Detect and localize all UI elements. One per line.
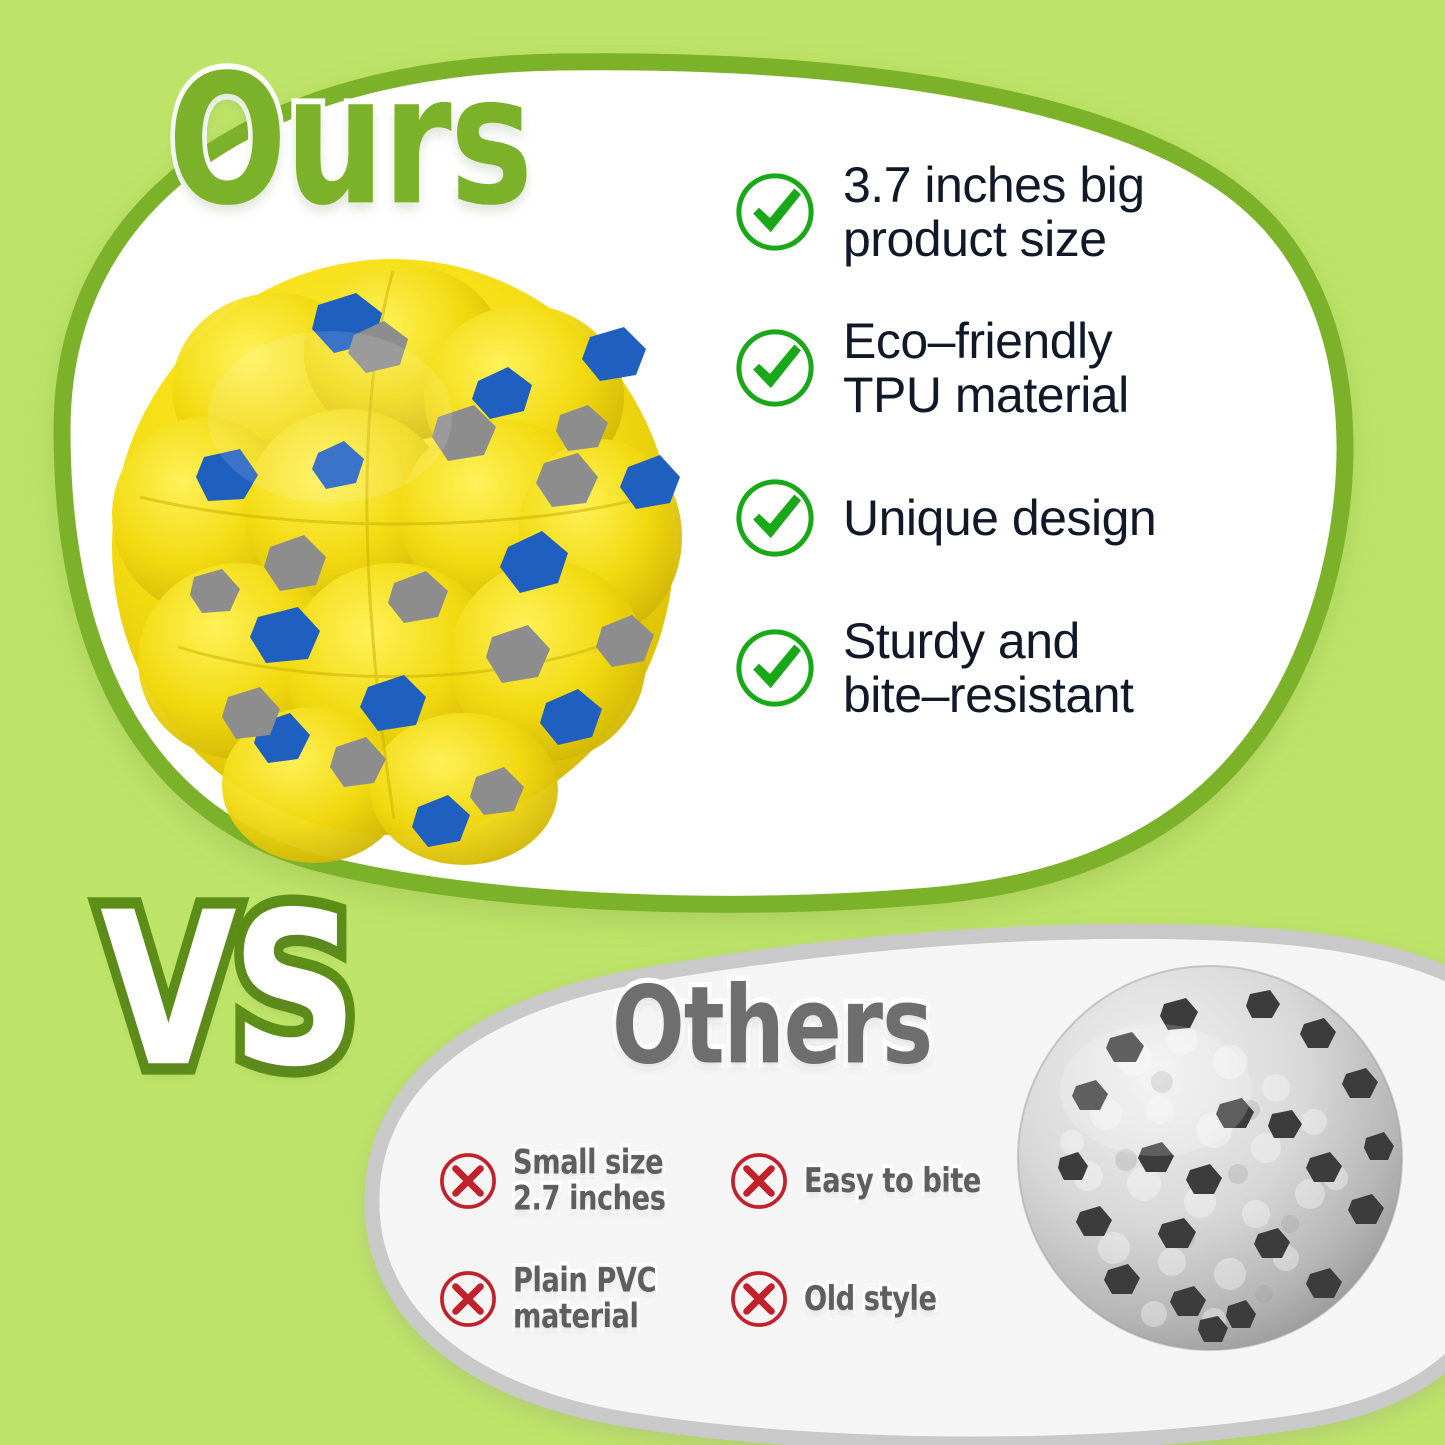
check-circle-icon <box>733 326 817 410</box>
ours-title: Ours <box>168 36 531 245</box>
drawback-row: Plain PVC material <box>437 1240 728 1358</box>
drawback-label: Small size 2.7 inches <box>513 1145 666 1217</box>
drawback-label: Easy to bite <box>804 1163 981 1199</box>
x-circle-icon <box>728 1150 790 1212</box>
feature-label: Sturdy and bite–resistant <box>843 614 1133 722</box>
drawback-label: Old style <box>804 1281 937 1317</box>
versus-label: VS <box>100 866 353 1113</box>
feature-row: Eco–friendly TPU material <box>733 314 1203 422</box>
feature-label: 3.7 inches big product size <box>843 158 1145 266</box>
check-circle-icon <box>733 626 817 710</box>
feature-label: Eco–friendly TPU material <box>843 314 1129 422</box>
drawback-row: Old style <box>728 1240 1022 1358</box>
drawback-row: Small size 2.7 inches <box>437 1122 728 1240</box>
feature-row: Sturdy and bite–resistant <box>733 614 1203 722</box>
others-drawback-list: Small size 2.7 inches Easy to bite Plain… <box>437 1122 1022 1358</box>
feature-label: Unique design <box>843 491 1156 545</box>
ours-feature-list: 3.7 inches big product size Eco–friendly… <box>733 158 1203 770</box>
x-circle-icon <box>437 1268 499 1330</box>
feature-row: Unique design <box>733 470 1203 566</box>
drawback-label: Plain PVC material <box>513 1263 656 1335</box>
x-circle-icon <box>437 1150 499 1212</box>
infographic-stage: Ours 3.7 inches big product size Eco–fri… <box>0 0 1445 1445</box>
check-circle-icon <box>733 170 817 254</box>
gray-ball-image <box>1018 966 1402 1350</box>
drawback-row: Easy to bite <box>728 1122 1022 1240</box>
others-title: Others <box>612 964 932 1088</box>
feature-row: 3.7 inches big product size <box>733 158 1203 266</box>
check-circle-icon <box>733 476 817 560</box>
x-circle-icon <box>728 1268 790 1330</box>
